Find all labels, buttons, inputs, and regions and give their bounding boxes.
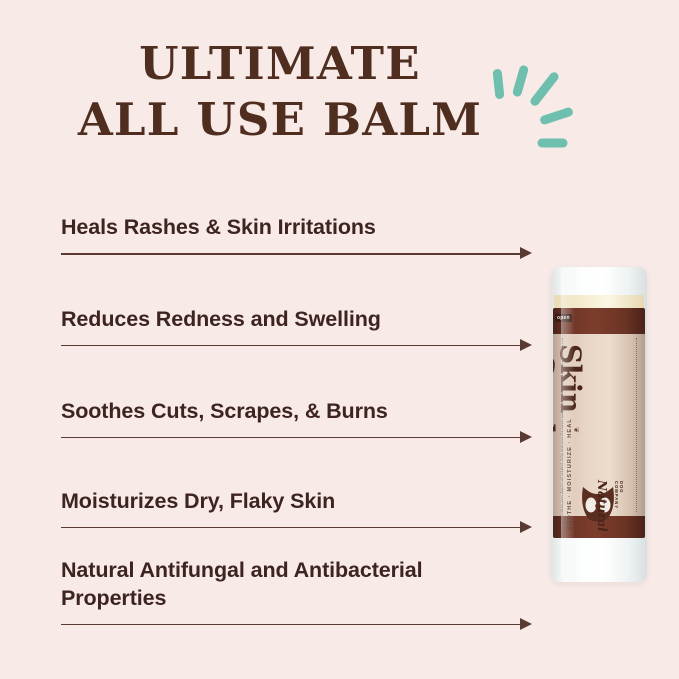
arrow-line xyxy=(61,345,522,347)
benefit-item: Natural Antifungal and Antibacterial Pro… xyxy=(61,557,533,632)
arrow-icon xyxy=(61,521,533,535)
paw-icon: ❦ xyxy=(572,427,580,433)
title-line-2: ALL USE BALM xyxy=(0,92,560,148)
arrow-head xyxy=(520,339,532,351)
product-name-line-2: Soother xyxy=(553,355,556,494)
brand-name: Natural xyxy=(595,480,609,532)
benefit-item: Reduces Redness and Swelling xyxy=(61,306,533,353)
product-name-line-1: Skin xyxy=(556,344,583,494)
product-name: Skin Soother xyxy=(553,344,583,494)
benefit-text: Heals Rashes & Skin Irritations xyxy=(61,214,533,242)
product-image: open Heals & Soothes your dog for all ir… xyxy=(551,267,647,582)
arrow-head xyxy=(520,521,532,533)
label-dotted-rule xyxy=(636,338,637,512)
open-tab-text: open xyxy=(555,314,572,322)
benefit-item: Moisturizes Dry, Flaky Skin xyxy=(61,488,533,535)
arrow-icon xyxy=(61,431,533,445)
brand-subtitle: DOG COMPANY xyxy=(614,481,624,509)
benefit-text: Reduces Redness and Swelling xyxy=(61,306,533,334)
benefit-text: Soothes Cuts, Scrapes, & Burns xyxy=(61,398,533,426)
arrow-head xyxy=(520,247,532,259)
benefit-item: Heals Rashes & Skin Irritations xyxy=(61,214,533,261)
page-title: ULTIMATE ALL USE BALM xyxy=(0,36,560,148)
arrow-line xyxy=(61,624,522,626)
arrow-head xyxy=(520,618,532,630)
arrow-icon xyxy=(61,247,533,261)
arrow-line xyxy=(61,437,522,439)
arrow-line xyxy=(61,253,522,255)
arrow-head xyxy=(520,431,532,443)
brand-logo: Natural DOG COMPANY xyxy=(579,476,635,536)
benefit-text: Moisturizes Dry, Flaky Skin xyxy=(61,488,533,516)
arrow-icon xyxy=(61,618,533,632)
arrow-icon xyxy=(61,339,533,353)
benefit-list: Heals Rashes & Skin Irritations Reduces … xyxy=(61,214,533,632)
benefit-item: Soothes Cuts, Scrapes, & Burns xyxy=(61,398,533,445)
arrow-line xyxy=(61,527,522,529)
product-label: open Heals & Soothes your dog for all ir… xyxy=(553,308,645,538)
title-line-1: ULTIMATE xyxy=(0,36,560,92)
benefit-text: Natural Antifungal and Antibacterial Pro… xyxy=(61,557,533,613)
